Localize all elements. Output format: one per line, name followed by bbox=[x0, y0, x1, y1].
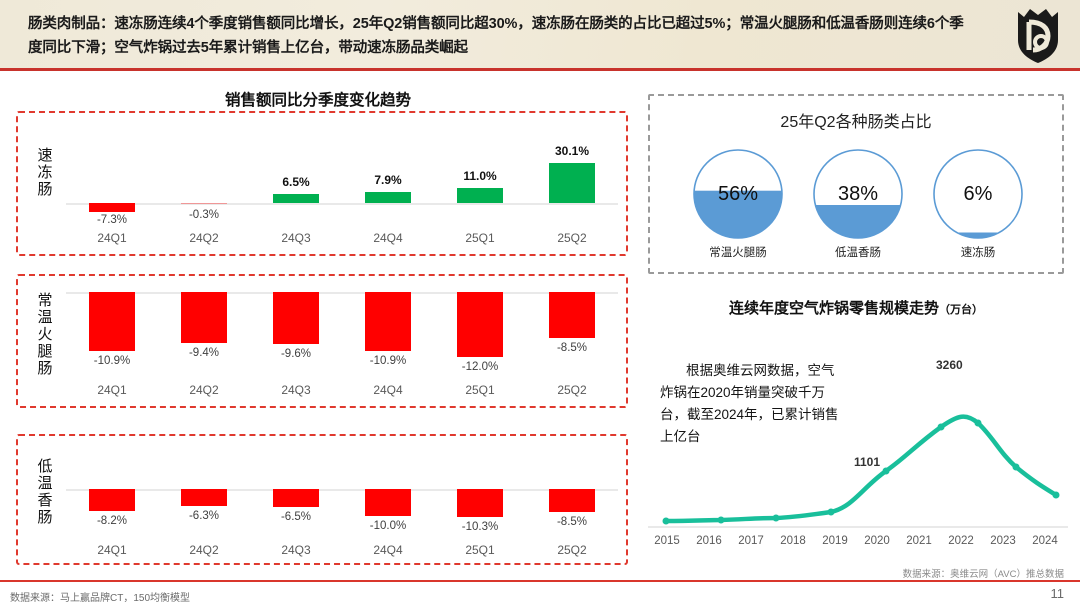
bar-24q1 bbox=[89, 489, 135, 511]
x-tick-label: 25Q1 bbox=[434, 231, 526, 245]
page-number: 11 bbox=[1051, 586, 1065, 601]
x-tick-2018: 2018 bbox=[771, 535, 815, 547]
bar-24q2 bbox=[181, 203, 227, 204]
x-tick-label: 24Q3 bbox=[250, 231, 342, 245]
bar-column: 11.0% 25Q1 bbox=[434, 113, 526, 254]
x-tick-2023: 2023 bbox=[981, 535, 1025, 547]
bar-value-label: 7.9% bbox=[342, 173, 434, 187]
bar-plot-frozen: -7.3% 24Q1 -0.3% 24Q2 6.5% 24Q3 7.9% 24Q… bbox=[66, 113, 618, 254]
bar-column: 7.9% 24Q4 bbox=[342, 113, 434, 254]
bar-column: -10.3% 25Q1 bbox=[434, 436, 526, 563]
bar-value-label: -9.4% bbox=[158, 347, 250, 359]
bar-column: -0.3% 24Q2 bbox=[158, 113, 250, 254]
x-tick-label: 25Q1 bbox=[434, 383, 526, 397]
gauge-value-label: 6% bbox=[932, 148, 1024, 240]
bar-column: -9.6% 24Q3 bbox=[250, 276, 342, 406]
x-tick-label: 24Q3 bbox=[250, 543, 342, 557]
x-tick-label: 25Q2 bbox=[526, 231, 618, 245]
bar-value-label: -10.9% bbox=[66, 355, 158, 367]
panel-ambient-ham-sausage: 常温火腿肠 -10.9% 24Q1 -9.4% 24Q2 -9.6% 24Q3 … bbox=[16, 274, 628, 408]
gauge-ambient-ham-sausage: 56% 常温火腿肠 bbox=[692, 148, 784, 240]
bar-value-label: -8.2% bbox=[66, 515, 158, 527]
bar-plot-chilled: -8.2% 24Q1 -6.3% 24Q2 -6.5% 24Q3 -10.0% … bbox=[66, 436, 618, 563]
gauge-chilled-sausage: 38% 低温香肠 bbox=[812, 148, 904, 240]
bar-value-label: -9.6% bbox=[250, 348, 342, 360]
gauge-category-label: 低温香肠 bbox=[797, 244, 919, 260]
bar-25q1 bbox=[457, 489, 503, 517]
bar-column: 30.1% 25Q2 bbox=[526, 113, 618, 254]
x-tick-label: 24Q1 bbox=[66, 543, 158, 557]
x-tick-label: 25Q2 bbox=[526, 383, 618, 397]
bar-column: 6.5% 24Q3 bbox=[250, 113, 342, 254]
bar-column: -7.3% 24Q1 bbox=[66, 113, 158, 254]
bar-plot-ambient: -10.9% 24Q1 -9.4% 24Q2 -9.6% 24Q3 -10.9%… bbox=[66, 276, 618, 406]
bar-value-label: -7.3% bbox=[66, 214, 158, 226]
air-fryer-line-chart bbox=[648, 355, 1068, 535]
bar-value-label: 30.1% bbox=[526, 144, 618, 158]
headline-text: 肠类肉制品：速冻肠连续4个季度销售额同比增长，25年Q2销售额同比超30%，速冻… bbox=[28, 12, 968, 60]
bar-value-label: 6.5% bbox=[250, 175, 342, 189]
x-tick-2024: 2024 bbox=[1023, 535, 1067, 547]
bar-24q3 bbox=[273, 489, 319, 507]
slide-header: 肠类肉制品：速冻肠连续4个季度销售额同比增长，25年Q2销售额同比超30%，速冻… bbox=[0, 0, 1080, 71]
gauge-category-label: 常温火腿肠 bbox=[677, 244, 799, 260]
bar-value-label: -10.3% bbox=[434, 521, 526, 533]
gauge-value-label: 38% bbox=[812, 148, 904, 240]
line-point-label-2022: 3260 bbox=[936, 358, 963, 372]
panel-label-ambient: 常温火腿肠 bbox=[32, 292, 58, 377]
panel-frozen-sausage: 速冻肠 -7.3% 24Q1 -0.3% 24Q2 6.5% 24Q3 7.9%… bbox=[16, 111, 628, 256]
panel-label-frozen: 速冻肠 bbox=[32, 147, 58, 198]
bar-column: -10.9% 24Q4 bbox=[342, 276, 434, 406]
line-chart-source: 数据来源：奥维云网（AVC）推总数据 bbox=[903, 566, 1064, 580]
x-tick-label: 24Q4 bbox=[342, 231, 434, 245]
x-tick-label: 24Q4 bbox=[342, 543, 434, 557]
bar-value-label: -12.0% bbox=[434, 361, 526, 373]
bar-25q2 bbox=[549, 292, 595, 338]
bar-25q1 bbox=[457, 292, 503, 357]
footer-divider bbox=[0, 580, 1080, 582]
x-tick-2016: 2016 bbox=[687, 535, 731, 547]
bar-value-label: -0.3% bbox=[158, 209, 250, 221]
bar-24q3 bbox=[273, 292, 319, 344]
line-point-label-2020: 1101 bbox=[854, 455, 880, 469]
bar-column: -8.2% 24Q1 bbox=[66, 436, 158, 563]
gauge-group: 56% 常温火腿肠 38% 低温香肠 6% 速冻肠 bbox=[650, 148, 1062, 278]
bar-value-label: -8.5% bbox=[526, 342, 618, 354]
gauge-value-label: 56% bbox=[692, 148, 784, 240]
bar-value-label: 11.0% bbox=[434, 169, 526, 183]
bar-column: -6.5% 24Q3 bbox=[250, 436, 342, 563]
bar-24q2 bbox=[181, 292, 227, 343]
bar-24q3 bbox=[273, 194, 319, 203]
bar-value-label: -8.5% bbox=[526, 516, 618, 528]
bar-value-label: -10.9% bbox=[342, 355, 434, 367]
x-tick-label: 24Q3 bbox=[250, 383, 342, 397]
panel-label-chilled: 低温香肠 bbox=[32, 458, 58, 526]
share-chart-title: 25年Q2各种肠类占比 bbox=[650, 108, 1062, 132]
x-tick-label: 25Q2 bbox=[526, 543, 618, 557]
bar-value-label: -6.3% bbox=[158, 510, 250, 522]
bar-column: -12.0% 25Q1 bbox=[434, 276, 526, 406]
gauge-category-label: 速冻肠 bbox=[917, 244, 1039, 260]
bar-25q1 bbox=[457, 188, 503, 203]
x-tick-2015: 2015 bbox=[645, 535, 689, 547]
bar-column: -10.9% 24Q1 bbox=[66, 276, 158, 406]
line-chart-title-main: 连续年度空气炸锅零售规模走势 bbox=[729, 300, 939, 317]
bar-25q2 bbox=[549, 163, 595, 203]
bar-value-label: -6.5% bbox=[250, 511, 342, 523]
x-tick-label: 24Q2 bbox=[158, 383, 250, 397]
bar-column: -6.3% 24Q2 bbox=[158, 436, 250, 563]
bar-24q4 bbox=[365, 489, 411, 516]
left-chart-title: 销售额同比分季度变化趋势 bbox=[0, 88, 636, 110]
line-chart-title: 连续年度空气炸锅零售规模走势（万台） bbox=[648, 297, 1064, 318]
footer-source: 数据来源：马上赢品牌CT，150均衡模型 bbox=[10, 589, 190, 604]
shield-crown-logo bbox=[1012, 6, 1064, 64]
x-tick-2017: 2017 bbox=[729, 535, 773, 547]
bar-column: -8.5% 25Q2 bbox=[526, 276, 618, 406]
x-tick-label: 24Q2 bbox=[158, 543, 250, 557]
panel-chilled-sausage: 低温香肠 -8.2% 24Q1 -6.3% 24Q2 -6.5% 24Q3 -1… bbox=[16, 434, 628, 565]
x-tick-label: 24Q4 bbox=[342, 383, 434, 397]
bar-value-label: -10.0% bbox=[342, 520, 434, 532]
x-tick-2019: 2019 bbox=[813, 535, 857, 547]
panel-category-share: 25年Q2各种肠类占比 56% 常温火腿肠 38% 低温香肠 bbox=[648, 94, 1064, 274]
bar-column: -10.0% 24Q4 bbox=[342, 436, 434, 563]
bar-24q4 bbox=[365, 192, 411, 203]
x-tick-2020: 2020 bbox=[855, 535, 899, 547]
bar-24q1 bbox=[89, 292, 135, 351]
bar-24q4 bbox=[365, 292, 411, 351]
x-tick-2022: 2022 bbox=[939, 535, 983, 547]
x-tick-label: 25Q1 bbox=[434, 543, 526, 557]
bar-24q2 bbox=[181, 489, 227, 506]
gauge-frozen-sausage: 6% 速冻肠 bbox=[932, 148, 1024, 240]
x-tick-2021: 2021 bbox=[897, 535, 941, 547]
x-tick-label: 24Q1 bbox=[66, 383, 158, 397]
bar-column: -9.4% 24Q2 bbox=[158, 276, 250, 406]
line-chart-unit: （万台） bbox=[939, 304, 983, 316]
bar-column: -8.5% 25Q2 bbox=[526, 436, 618, 563]
x-tick-label: 24Q2 bbox=[158, 231, 250, 245]
x-tick-label: 24Q1 bbox=[66, 231, 158, 245]
bar-24q1 bbox=[89, 203, 135, 212]
bar-25q2 bbox=[549, 489, 595, 512]
